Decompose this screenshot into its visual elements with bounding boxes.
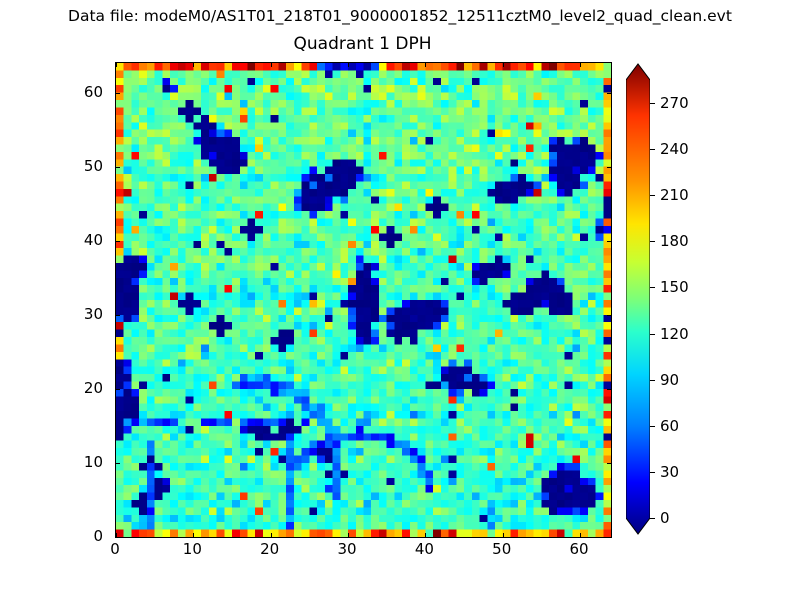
colorbar-tick-label: 270 — [660, 95, 689, 111]
x-tick-label: 50 — [492, 541, 511, 557]
x-tick — [425, 63, 426, 67]
colorbar-tick — [650, 241, 655, 242]
y-tick — [116, 241, 120, 242]
y-tick — [116, 167, 120, 168]
x-tick — [193, 63, 194, 67]
detector-pixel-heatmap — [116, 63, 611, 537]
y-tick — [607, 241, 611, 242]
colorbar-tick-label: 150 — [660, 279, 689, 295]
x-tick-label: 20 — [260, 541, 279, 557]
colorbar-tick-label: 210 — [660, 187, 689, 203]
colorbar-tick-label: 180 — [660, 233, 689, 249]
x-tick — [503, 63, 504, 67]
x-tick-label: 10 — [183, 541, 202, 557]
y-tick — [607, 167, 611, 168]
y-tick — [607, 315, 611, 316]
x-tick — [348, 533, 349, 537]
x-tick — [580, 533, 581, 537]
colorbar-tick — [650, 149, 655, 150]
x-tick — [116, 63, 117, 67]
colorbar-tick — [650, 472, 655, 473]
colorbar-tick — [650, 103, 655, 104]
colorbar-tick — [650, 287, 655, 288]
colorbar-tick-label: 240 — [660, 141, 689, 157]
colorbar-tick — [650, 426, 655, 427]
x-tick — [580, 63, 581, 67]
x-tick-label: 0 — [110, 541, 120, 557]
x-tick-label: 30 — [337, 541, 356, 557]
x-tick-label: 60 — [570, 541, 589, 557]
colorbar-tick-label: 30 — [660, 464, 679, 480]
y-tick — [607, 463, 611, 464]
colorbar-tick-label: 90 — [660, 372, 679, 388]
y-tick — [116, 537, 120, 538]
y-tick — [607, 389, 611, 390]
colorbar-tick-label: 120 — [660, 326, 689, 342]
heatmap-axes — [115, 62, 612, 538]
x-tick — [193, 533, 194, 537]
x-tick-label: 40 — [415, 541, 434, 557]
page-title: Quadrant 1 DPH — [115, 34, 610, 54]
colorbar-tick-label: 60 — [660, 418, 679, 434]
x-tick — [348, 63, 349, 67]
x-tick — [503, 533, 504, 537]
colorbar-tick-label: 0 — [660, 510, 670, 526]
y-tick — [607, 93, 611, 94]
x-tick — [425, 533, 426, 537]
y-tick — [116, 389, 120, 390]
colorbar-tick — [650, 334, 655, 335]
y-tick — [607, 537, 611, 538]
x-tick — [271, 63, 272, 67]
colorbar-body — [626, 64, 650, 534]
colorbar — [626, 62, 650, 536]
colorbar-tick — [650, 380, 655, 381]
colorbar-tick — [650, 195, 655, 196]
y-tick — [116, 93, 120, 94]
y-tick — [116, 315, 120, 316]
y-tick — [116, 463, 120, 464]
colorbar-gradient — [626, 62, 650, 536]
data-file-suptitle: Data file: modeM0/AS1T01_218T01_90000018… — [0, 7, 800, 25]
colorbar-tick — [650, 518, 655, 519]
x-tick — [271, 533, 272, 537]
